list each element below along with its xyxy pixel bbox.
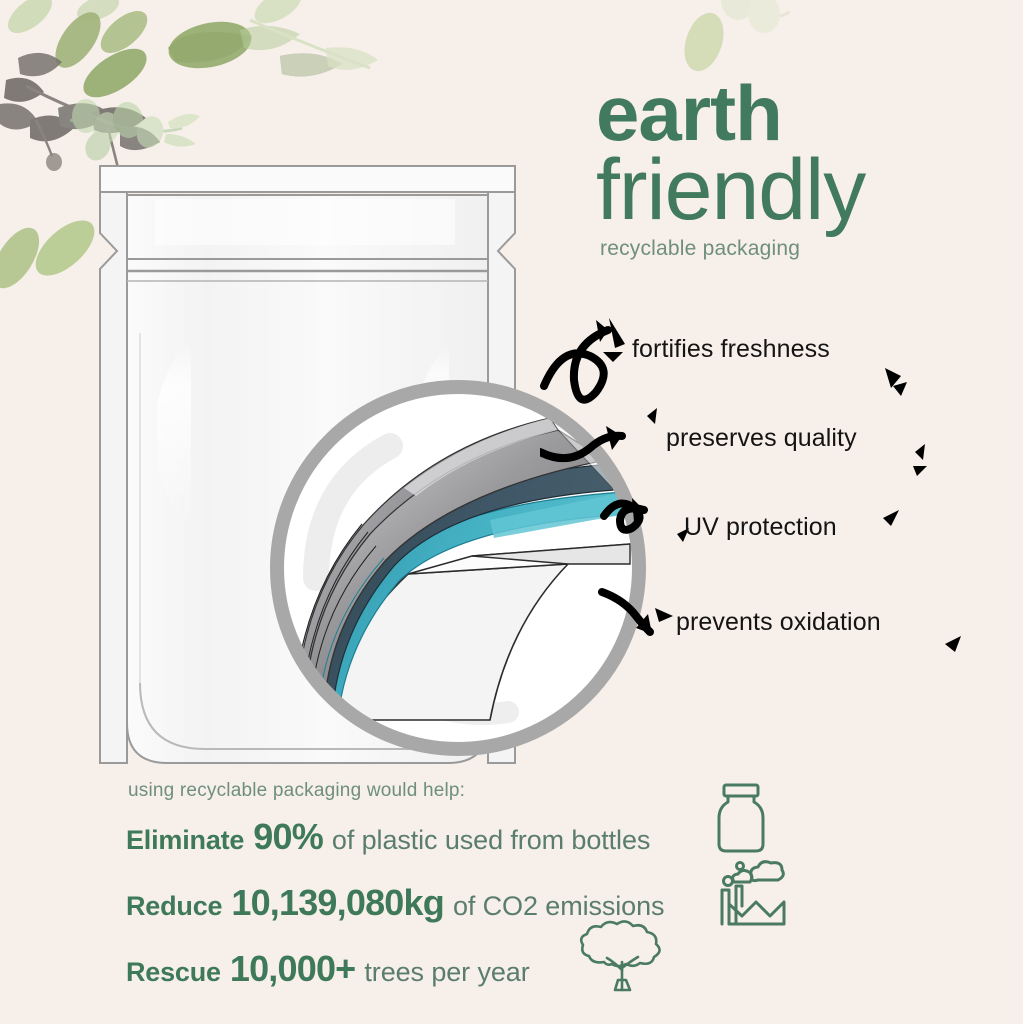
heading-line-friendly: friendly xyxy=(596,150,1016,232)
stat-row: Reduce 10,139,080kg of CO2 emissions xyxy=(126,882,766,924)
stat-value: 10,000+ xyxy=(230,948,356,990)
stat-value: 10,139,080kg xyxy=(231,882,444,924)
stats-section: using recyclable packaging would help: E… xyxy=(126,780,766,1014)
stat-verb: Rescue xyxy=(126,957,221,988)
infographic-canvas: earth friendly recyclable packaging fort… xyxy=(0,0,1023,1024)
feature-label-uv-protection: UV protection xyxy=(684,513,837,542)
feature-label-prevents-oxidation: prevents oxidation xyxy=(676,608,881,637)
magnifier-cross-section xyxy=(258,368,658,768)
stat-tail: trees per year xyxy=(364,957,529,988)
magnifier-svg xyxy=(258,368,658,768)
tree-icon xyxy=(574,918,670,998)
stat-row: Eliminate 90% of plastic used from bottl… xyxy=(126,816,766,858)
heading-line-earth: earth xyxy=(596,78,1016,150)
stats-intro: using recyclable packaging would help: xyxy=(128,780,766,802)
feature-label-fortifies-freshness: fortifies freshness xyxy=(632,335,830,364)
feature-label-preserves-quality: preserves quality xyxy=(666,424,857,453)
page-heading: earth friendly recyclable packaging xyxy=(596,78,1016,261)
stat-tail: of plastic used from bottles xyxy=(332,825,650,856)
heading-subtitle: recyclable packaging xyxy=(600,237,1016,261)
bottle-icon xyxy=(713,782,769,854)
factory-icon xyxy=(716,856,788,928)
stat-verb: Eliminate xyxy=(126,825,244,856)
stat-verb: Reduce xyxy=(126,891,222,922)
stat-value: 90% xyxy=(253,816,323,858)
stat-row: Rescue 10,000+ trees per year xyxy=(126,948,766,990)
